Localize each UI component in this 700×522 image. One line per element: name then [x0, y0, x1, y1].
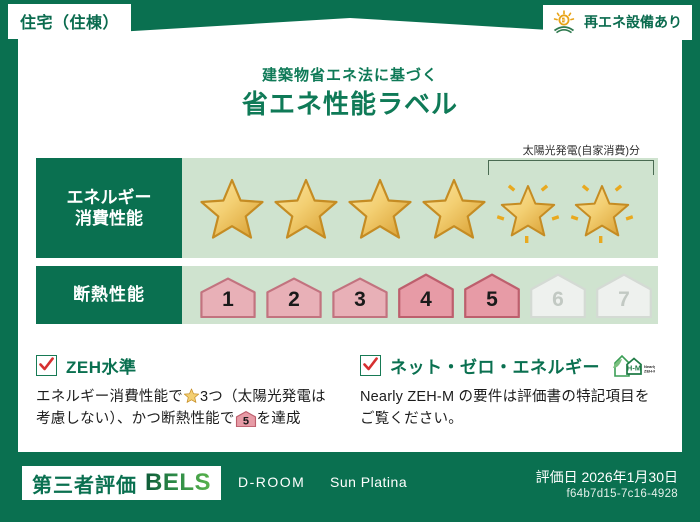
- inline-grade-badge: 5: [235, 410, 257, 427]
- energy-performance-rating-area: 太陽光発電(自家消費)分: [182, 158, 658, 258]
- zeh-m-logo-icon: H-M Nearly ZEH-M: [611, 352, 655, 378]
- svg-text:5: 5: [242, 416, 248, 428]
- inline-star-icon: [183, 387, 200, 404]
- energy-performance-label-text: エネルギー消費性能: [67, 187, 152, 230]
- energy-performance-label-box: エネルギー消費性能: [36, 158, 182, 258]
- evaluation-id: f64b7d15-7c16-4928: [566, 488, 678, 500]
- star-solar-6: [566, 172, 638, 244]
- insulation-performance-label-box: 断熱性能: [36, 266, 182, 324]
- net-zero-energy-description: Nearly ZEH-M の要件は評価書の特記項目をご覧ください。: [360, 386, 660, 431]
- renewable-equipment-tag: 再エネ設備あり: [543, 5, 692, 40]
- grade-number: 6: [526, 288, 590, 312]
- insulation-grade-5: 5: [460, 270, 524, 318]
- grade-number: 2: [262, 288, 326, 312]
- zeh-desc-part3: を達成: [257, 411, 301, 427]
- label-footer: 第三者評価 BELS D-ROOM Sun Platina 評価日 2026年1…: [0, 458, 700, 522]
- label-title: 省エネ性能ラベル: [0, 84, 700, 121]
- insulation-grade-7: 7: [592, 270, 656, 318]
- criteria-columns: ZEH水準 エネルギー消費性能で 3つ（太陽光発電は考慮しない）、かつ断熱性能で…: [36, 352, 660, 448]
- pv-caption: 太陽光発電(自家消費)分: [523, 142, 640, 158]
- energy-performance-label: 住宅（住棟） 再エネ設備あり 建築物省エネ法に基づく 省エネ性能ラベル: [0, 0, 700, 522]
- renewable-equipment-text: 再エネ設備あり: [584, 12, 682, 32]
- net-zero-energy-title: ネット・ゼロ・エネルギー: [390, 353, 600, 378]
- star-filled-1: [196, 172, 268, 244]
- star-solar-5: [492, 172, 564, 244]
- net-zero-energy-headline: ネット・ゼロ・エネルギー H-M Nearly ZEH-M: [360, 352, 660, 378]
- insulation-grade-1: 1: [196, 274, 260, 318]
- product-name: Sun Platina: [330, 474, 407, 490]
- net-zero-energy-block: ネット・ゼロ・エネルギー H-M Nearly ZEH-M Nearly ZEH…: [360, 352, 660, 431]
- zeh-standard-headline: ZEH水準: [36, 352, 336, 378]
- building-type-tag: 住宅（住棟）: [8, 4, 131, 39]
- zeh-m-logo-text: H-M: [627, 364, 641, 373]
- zeh-desc-part1: エネルギー消費性能で: [36, 389, 183, 405]
- evaluation-date: 評価日 2026年1月30日: [536, 467, 678, 487]
- star-filled-3: [344, 172, 416, 244]
- check-icon: [36, 355, 57, 376]
- insulation-grade-area: 1 2 3 4: [182, 266, 658, 324]
- grade-number: 1: [196, 288, 260, 312]
- star-filled-2: [270, 172, 342, 244]
- zeh-standard-title: ZEH水準: [66, 353, 137, 378]
- check-icon: [360, 355, 381, 376]
- grade-number: 4: [394, 288, 458, 312]
- insulation-grade-6: 6: [526, 270, 590, 318]
- insulation-performance-label-text: 断熱性能: [73, 284, 145, 305]
- building-type-text: 住宅（住棟）: [20, 15, 119, 32]
- grade-number: 5: [460, 288, 524, 312]
- zeh-standard-block: ZEH水準 エネルギー消費性能で 3つ（太陽光発電は考慮しない）、かつ断熱性能で…: [36, 352, 336, 431]
- star-rating: [182, 158, 658, 258]
- bels-logo-text: BELS: [145, 469, 211, 497]
- grade-number: 3: [328, 288, 392, 312]
- bels-badge: 第三者評価 BELS: [22, 466, 221, 500]
- insulation-grade-3: 3: [328, 274, 392, 318]
- insulation-performance-row: 断熱性能 1 2: [36, 266, 658, 324]
- grade-number: 7: [592, 288, 656, 312]
- bels-japanese-text: 第三者評価: [32, 469, 137, 498]
- star-filled-4: [418, 172, 490, 244]
- zeh-m-logo-sub2: ZEH-M: [644, 369, 655, 374]
- insulation-grade-list: 1 2 3 4: [182, 266, 658, 324]
- insulation-grade-4: 4: [394, 270, 458, 318]
- sun-renewable-icon: [551, 10, 577, 34]
- brand-name: D-ROOM: [238, 474, 305, 490]
- energy-performance-row: エネルギー消費性能 太陽光発電(自家消費)分: [36, 158, 658, 258]
- zeh-standard-description: エネルギー消費性能で 3つ（太陽光発電は考慮しない）、かつ断熱性能で 5 を達成: [36, 386, 336, 431]
- insulation-grade-2: 2: [262, 274, 326, 318]
- label-subtitle: 建築物省エネ法に基づく: [0, 64, 700, 85]
